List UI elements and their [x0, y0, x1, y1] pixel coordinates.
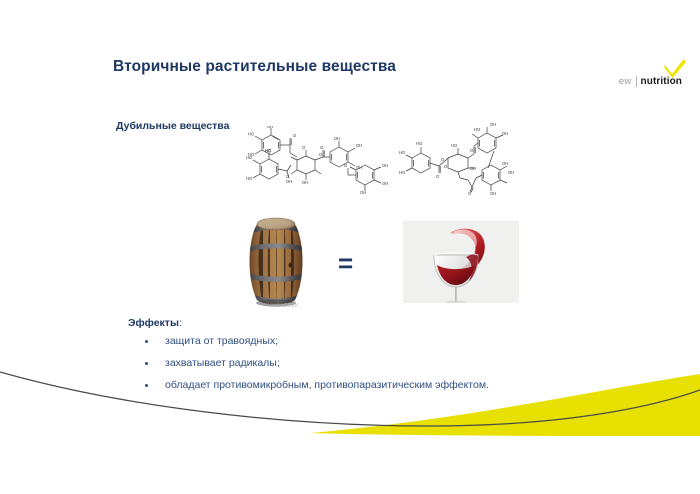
effects-heading-colon: :	[179, 317, 182, 329]
svg-text:O: O	[470, 148, 474, 153]
page-title: Вторичные растительные вещества	[113, 58, 396, 76]
svg-text:OH: OH	[490, 122, 496, 127]
checkmark-swoosh-icon	[664, 60, 686, 78]
svg-text:OH: OH	[356, 165, 362, 170]
tannin-chemical-structure-left: OH HO HO HO O O O OH O OH HO HO HO OH OH…	[238, 126, 388, 198]
svg-text:O: O	[319, 152, 323, 157]
svg-text:HO: HO	[451, 143, 458, 148]
svg-text:OH: OH	[356, 143, 362, 148]
svg-text:OH: OH	[502, 131, 508, 136]
slide-canvas: Вторичные растительные вещества ew nutri…	[0, 0, 700, 494]
svg-text:OH: OH	[382, 181, 388, 186]
svg-text:OH: OH	[382, 163, 388, 168]
effects-heading-label: Эффекты	[128, 317, 179, 329]
equals-sign: =	[338, 250, 353, 276]
svg-text:O: O	[302, 145, 306, 150]
svg-text:OH: OH	[302, 180, 308, 185]
svg-text:HO: HO	[265, 148, 272, 153]
list-item: защита от травоядных;	[143, 336, 489, 348]
svg-text:O: O	[293, 133, 297, 138]
svg-text:O: O	[436, 174, 440, 179]
svg-text:HO: HO	[248, 132, 255, 137]
barrel-watermark: wiseGEEK	[273, 303, 299, 308]
svg-text:OH: OH	[508, 170, 514, 175]
effects-heading: Эффекты:	[128, 317, 182, 329]
svg-text:OH: OH	[502, 161, 508, 166]
bullet-dot-icon	[145, 340, 148, 343]
svg-text:HO: HO	[474, 127, 481, 132]
svg-text:O: O	[344, 163, 348, 168]
svg-text:O: O	[444, 164, 448, 169]
bottom-decoration	[0, 364, 700, 494]
yellow-swoosh-shape	[310, 374, 700, 436]
svg-text:OH: OH	[286, 179, 292, 184]
svg-text:HO: HO	[246, 155, 253, 160]
svg-text:OH: OH	[334, 136, 340, 141]
logo-divider	[636, 76, 637, 87]
svg-text:HO: HO	[399, 170, 406, 175]
svg-text:OH: OH	[490, 191, 496, 196]
svg-text:OH: OH	[470, 166, 476, 171]
svg-text:OH: OH	[360, 190, 366, 195]
svg-text:OH: OH	[267, 126, 273, 129]
red-wine-glass-image	[403, 221, 519, 303]
brand-logo: ew nutrition	[619, 68, 682, 94]
logo-prefix-text: ew	[619, 76, 636, 87]
tannin-chemical-structure-right: HO HO HO O O HO O OH O O HO OH OH OH OH …	[398, 118, 538, 202]
svg-text:HO: HO	[246, 176, 253, 181]
section-subtitle: Дубильные вещества	[116, 120, 229, 132]
wine-barrel-image: wiseGEEK	[243, 214, 309, 308]
svg-text:HO: HO	[416, 141, 423, 146]
svg-text:HO: HO	[399, 150, 406, 155]
svg-text:O: O	[320, 145, 324, 150]
list-item-text: защита от травоядных;	[165, 335, 278, 347]
